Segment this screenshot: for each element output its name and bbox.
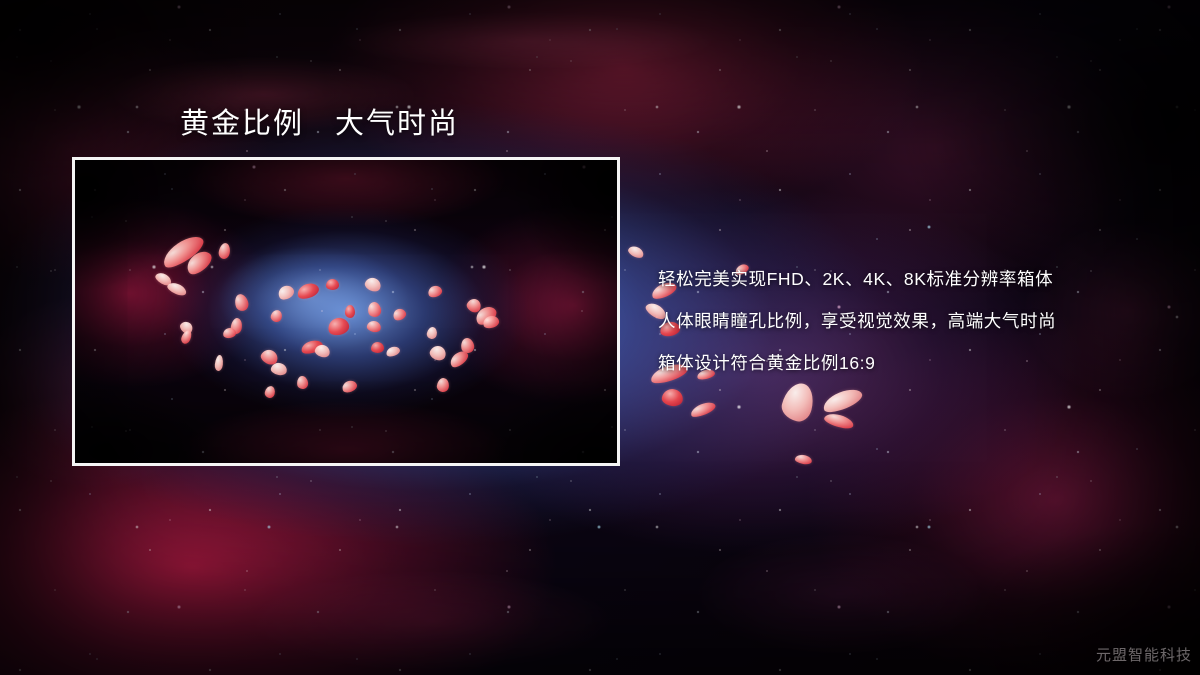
- watermark: 元盟智能科技: [1096, 644, 1192, 665]
- body-text-block: 轻松完美实现FHD、2K、4K、8K标准分辨率箱体 人体眼睛瞳孔比例，享受视觉效…: [658, 258, 1158, 384]
- petal-icon: [794, 454, 812, 466]
- petal-icon: [779, 380, 817, 424]
- body-line-1: 轻松完美实现FHD、2K、4K、8K标准分辨率箱体: [658, 258, 1158, 300]
- body-line-3: 箱体设计符合黄金比例16:9: [658, 342, 1158, 384]
- petal-icon: [371, 342, 384, 353]
- framed-image-16-9[interactable]: [72, 157, 620, 466]
- petal-icon: [820, 385, 864, 416]
- page-title: 黄金比例 大气时尚: [180, 100, 459, 142]
- petal-icon: [823, 411, 855, 431]
- petal-icon: [627, 244, 646, 260]
- petal-icon: [689, 400, 717, 420]
- petal-icon: [326, 279, 339, 290]
- body-line-2: 人体眼睛瞳孔比例，享受视觉效果，高端大气时尚: [658, 300, 1158, 342]
- framed-image-content: [75, 160, 617, 463]
- petal-icon: [661, 388, 684, 408]
- petal-icon: [345, 305, 355, 318]
- presentation-slide: 黄金比例 大气时尚 轻松完美实现FHD、2K、4K、8K标准分辨率箱体 人体眼睛…: [0, 0, 1200, 675]
